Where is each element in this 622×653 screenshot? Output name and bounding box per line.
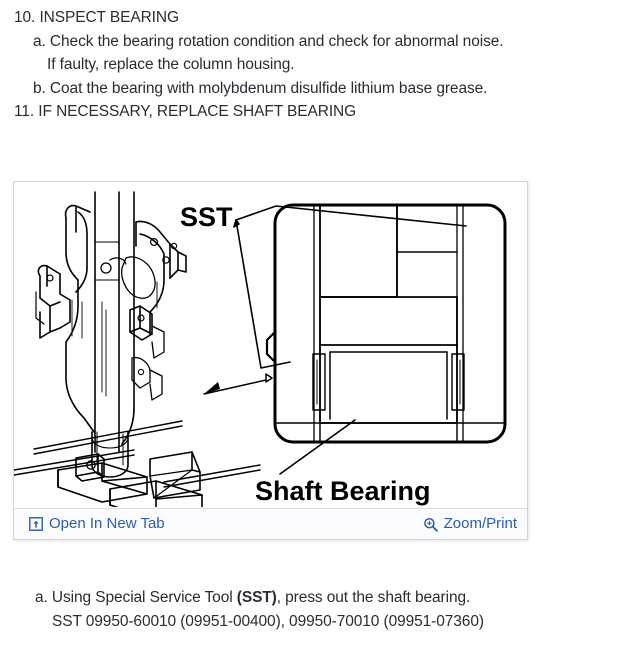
instruction-line: 10. INSPECT BEARING xyxy=(0,6,612,30)
sst-leader-lines xyxy=(234,206,466,368)
instruction-block-bottom: a. Using Special Service Tool (SST), pre… xyxy=(0,586,612,633)
instruction-line: If faulty, replace the column housing. xyxy=(0,53,612,77)
instruction-line: a. Check the bearing rotation condition … xyxy=(0,30,612,54)
magnifier-plus-icon xyxy=(423,517,438,532)
open-in-new-tab-icon xyxy=(28,517,43,532)
instruction-block-top: 10. INSPECT BEARING a. Check the bearing… xyxy=(0,6,612,124)
instruction-text-bold: (SST) xyxy=(237,589,277,606)
instruction-text-suffix: , press out the shaft bearing. xyxy=(277,589,470,606)
figure-toolbar: Open In New Tab Zoom/Print xyxy=(14,508,527,539)
open-in-new-tab-label: Open In New Tab xyxy=(49,516,165,532)
instruction-line-sst: a. Using Special Service Tool (SST), pre… xyxy=(0,586,612,610)
figure-panel: SST Shaft Bearing Open In New Tab xyxy=(13,181,528,540)
open-in-new-tab-button[interactable]: Open In New Tab xyxy=(28,516,165,532)
figure-image: SST Shaft Bearing xyxy=(14,182,527,507)
sst-label: SST xyxy=(180,202,233,232)
instruction-text-prefix: a. Using Special Service Tool xyxy=(35,589,237,606)
instruction-line: 11. IF NECESSARY, REPLACE SHAFT BEARING xyxy=(0,100,612,124)
zoom-print-label: Zoom/Print xyxy=(444,516,517,532)
shaft-bearing-leader-line xyxy=(280,420,355,474)
shaft-bearing-label: Shaft Bearing xyxy=(255,476,431,506)
instruction-line-sst-numbers: SST 09950-60010 (09951-00400), 09950-700… xyxy=(0,610,612,634)
column-assembly-drawing xyxy=(14,192,260,507)
zoom-print-button[interactable]: Zoom/Print xyxy=(423,516,517,532)
shaft-bearing-cross-section xyxy=(267,205,505,442)
sst-pointer-arrow xyxy=(204,374,272,394)
instruction-line: b. Coat the bearing with molybdenum disu… xyxy=(0,77,612,101)
